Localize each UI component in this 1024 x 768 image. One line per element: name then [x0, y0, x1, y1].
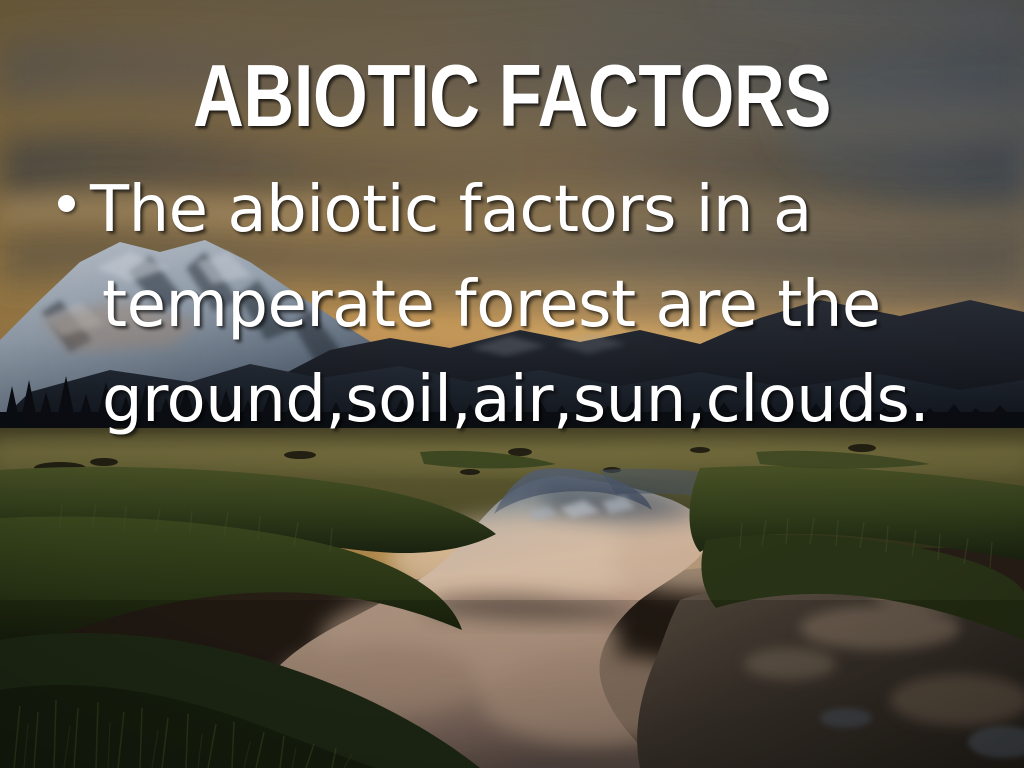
bullet-text-line-2: temperate forest are the: [90, 258, 998, 353]
bullet-dot-icon: [58, 195, 75, 212]
list-item: The abiotic factors in a temperate fores…: [58, 163, 998, 448]
presentation-slide: ABIOTIC FACTORS The abiotic factors in a…: [0, 0, 1024, 768]
bullet-text-line-3: ground,soil,air,sun,clouds.: [90, 353, 998, 448]
page-title: ABIOTIC FACTORS: [102, 52, 921, 140]
bullet-list: The abiotic factors in a temperate fores…: [58, 163, 998, 448]
slide-text-layer: ABIOTIC FACTORS The abiotic factors in a…: [0, 0, 1024, 768]
bullet-text: The abiotic factors in a temperate fores…: [90, 163, 998, 448]
bullet-text-line-1: The abiotic factors in a: [90, 163, 998, 258]
